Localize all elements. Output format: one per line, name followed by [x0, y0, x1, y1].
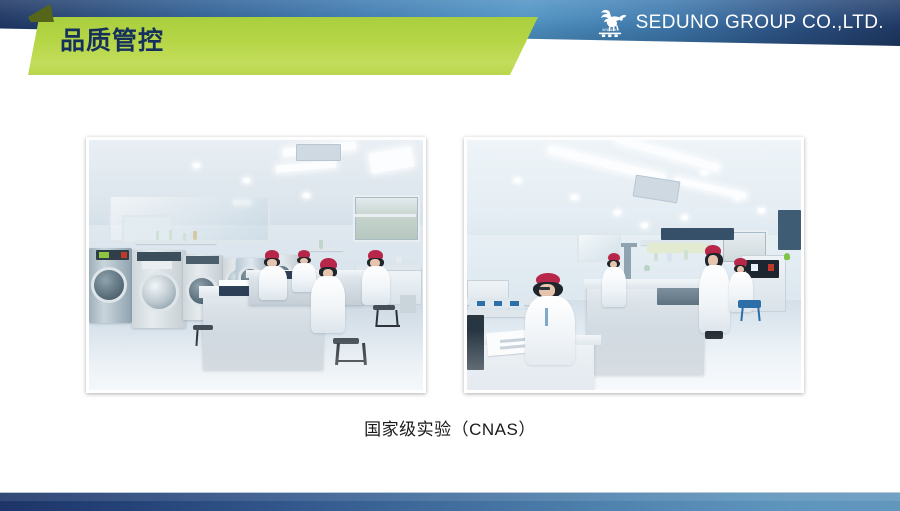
slide-footer-bar [0, 492, 900, 511]
box-cap [510, 301, 518, 306]
wall-panel [778, 210, 801, 250]
bottle [183, 233, 186, 241]
waste-bin [400, 295, 417, 313]
washer-porthole [94, 270, 124, 300]
display-indicator [768, 264, 775, 272]
eyeglasses [539, 287, 551, 290]
stool-seat [738, 300, 761, 308]
bottle [193, 231, 197, 240]
bottle [156, 231, 159, 240]
downlight [571, 195, 578, 200]
lab-coat [602, 267, 626, 307]
lab-technician [601, 253, 628, 308]
photo-textile-testing-lab [86, 137, 426, 393]
page-title: 品质管控 [60, 29, 164, 54]
wall-display [661, 228, 734, 241]
window-mullion [353, 214, 416, 218]
floor-reflection [467, 330, 801, 390]
downlight [243, 178, 250, 183]
box-cap [477, 301, 485, 306]
control-panel [186, 256, 219, 264]
lab-coat [362, 266, 391, 305]
lab-technician [360, 250, 393, 305]
flask [654, 253, 658, 261]
sink [657, 288, 700, 306]
label-strip [142, 261, 172, 269]
lab-coat [259, 266, 287, 301]
lab-coat [699, 265, 730, 333]
brand-block: seduno SEDUNO GROUP CO.,LTD. [593, 6, 884, 40]
photo-caption: 国家级实验（CNAS） [0, 415, 900, 440]
pegasus-logo-icon: seduno [593, 8, 627, 38]
box-cap [494, 301, 502, 306]
stool-seat [193, 325, 213, 330]
downlight [758, 208, 765, 213]
downlight [514, 178, 521, 183]
bottle [169, 230, 172, 240]
downlight [193, 163, 200, 168]
photo-chemical-analysis-lab [464, 137, 804, 393]
floor-reflection [89, 335, 423, 390]
photo-right-scene [467, 140, 801, 390]
svg-text:seduno: seduno [602, 27, 618, 33]
lab-technician [256, 250, 289, 300]
lab-coat [311, 276, 345, 332]
ac-vent [296, 144, 341, 161]
brand-company-name: SEDUNO GROUP CO.,LTD. [636, 12, 884, 34]
photo-left-scene [89, 140, 423, 390]
downlight [641, 223, 648, 228]
slide-body: 国家级实验（CNAS） [0, 95, 900, 455]
window [353, 195, 420, 242]
flask [644, 265, 650, 271]
downlight [681, 215, 688, 220]
downlight [701, 170, 708, 175]
stool-rung [376, 325, 399, 327]
flask [684, 250, 688, 260]
control-display [99, 252, 109, 259]
lab-stand-arm [621, 243, 638, 247]
control-panel [137, 252, 180, 261]
equipment [396, 255, 402, 263]
plant [784, 253, 790, 260]
control-button [121, 252, 128, 259]
downlight [614, 210, 621, 215]
lab-technician [309, 258, 346, 333]
shelf [136, 240, 216, 244]
bottle [319, 240, 323, 249]
face [539, 284, 555, 297]
lanyard [545, 308, 548, 327]
flask [667, 253, 672, 262]
downlight [303, 193, 310, 198]
slide-header: seduno SEDUNO GROUP CO.,LTD. 品质管控 [0, 0, 900, 90]
